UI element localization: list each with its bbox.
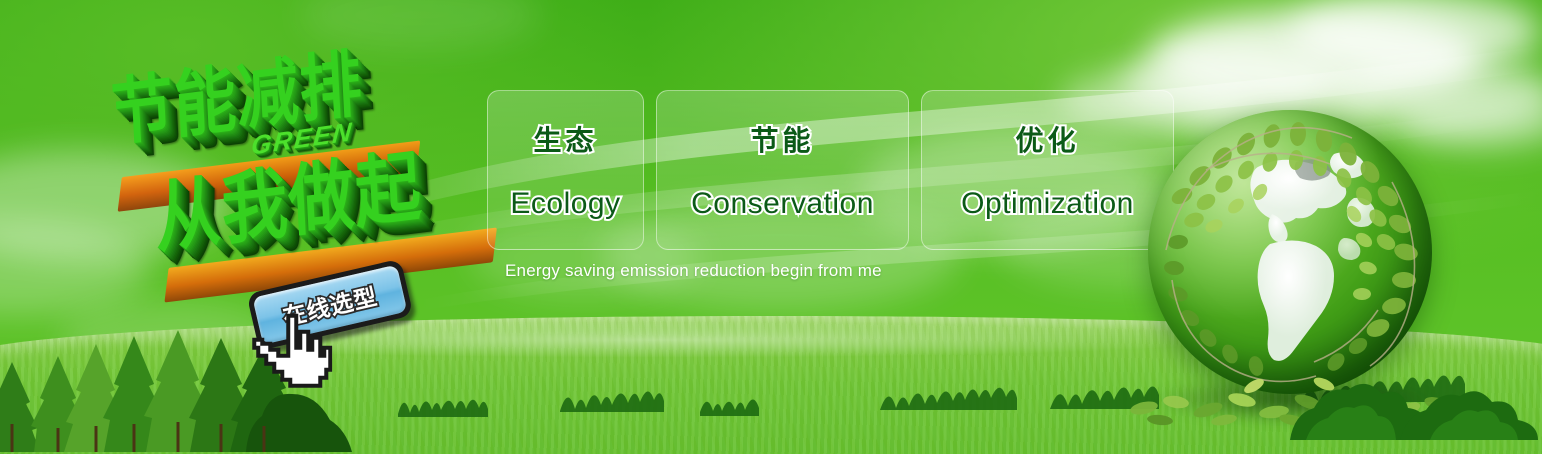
globe-sphere [1148,110,1432,394]
feature-card-cn-label: 生态 [533,119,597,159]
globe-vine-overlay [1148,110,1432,394]
hand-pointer-icon [248,308,332,394]
feature-card-cn-label: 节能 [750,119,814,159]
tagline: Energy saving emission reduction begin f… [505,261,882,281]
headline-3d: 节能减排 GREEN 从我做起 [94,30,486,285]
feature-card-conservation[interactable]: 节能 Conservation [656,90,909,250]
feature-card-cn-label: 优化 [1015,119,1079,159]
eco-promo-banner: 节能减排 GREEN 从我做起 生态 Ecology 节能 Conservati… [0,0,1542,454]
feature-card-en-label: Conservation [691,187,874,221]
shrub-cluster-icon [1290,360,1542,440]
feature-card-en-label: Ecology [510,187,620,221]
feature-card-ecology[interactable]: 生态 Ecology [487,90,644,250]
feature-card-optimization[interactable]: 优化 Optimization [921,90,1174,250]
feature-card-en-label: Optimization [961,187,1134,221]
feature-card-list: 生态 Ecology 节能 Conservation 优化 Optimizati… [487,90,1174,250]
